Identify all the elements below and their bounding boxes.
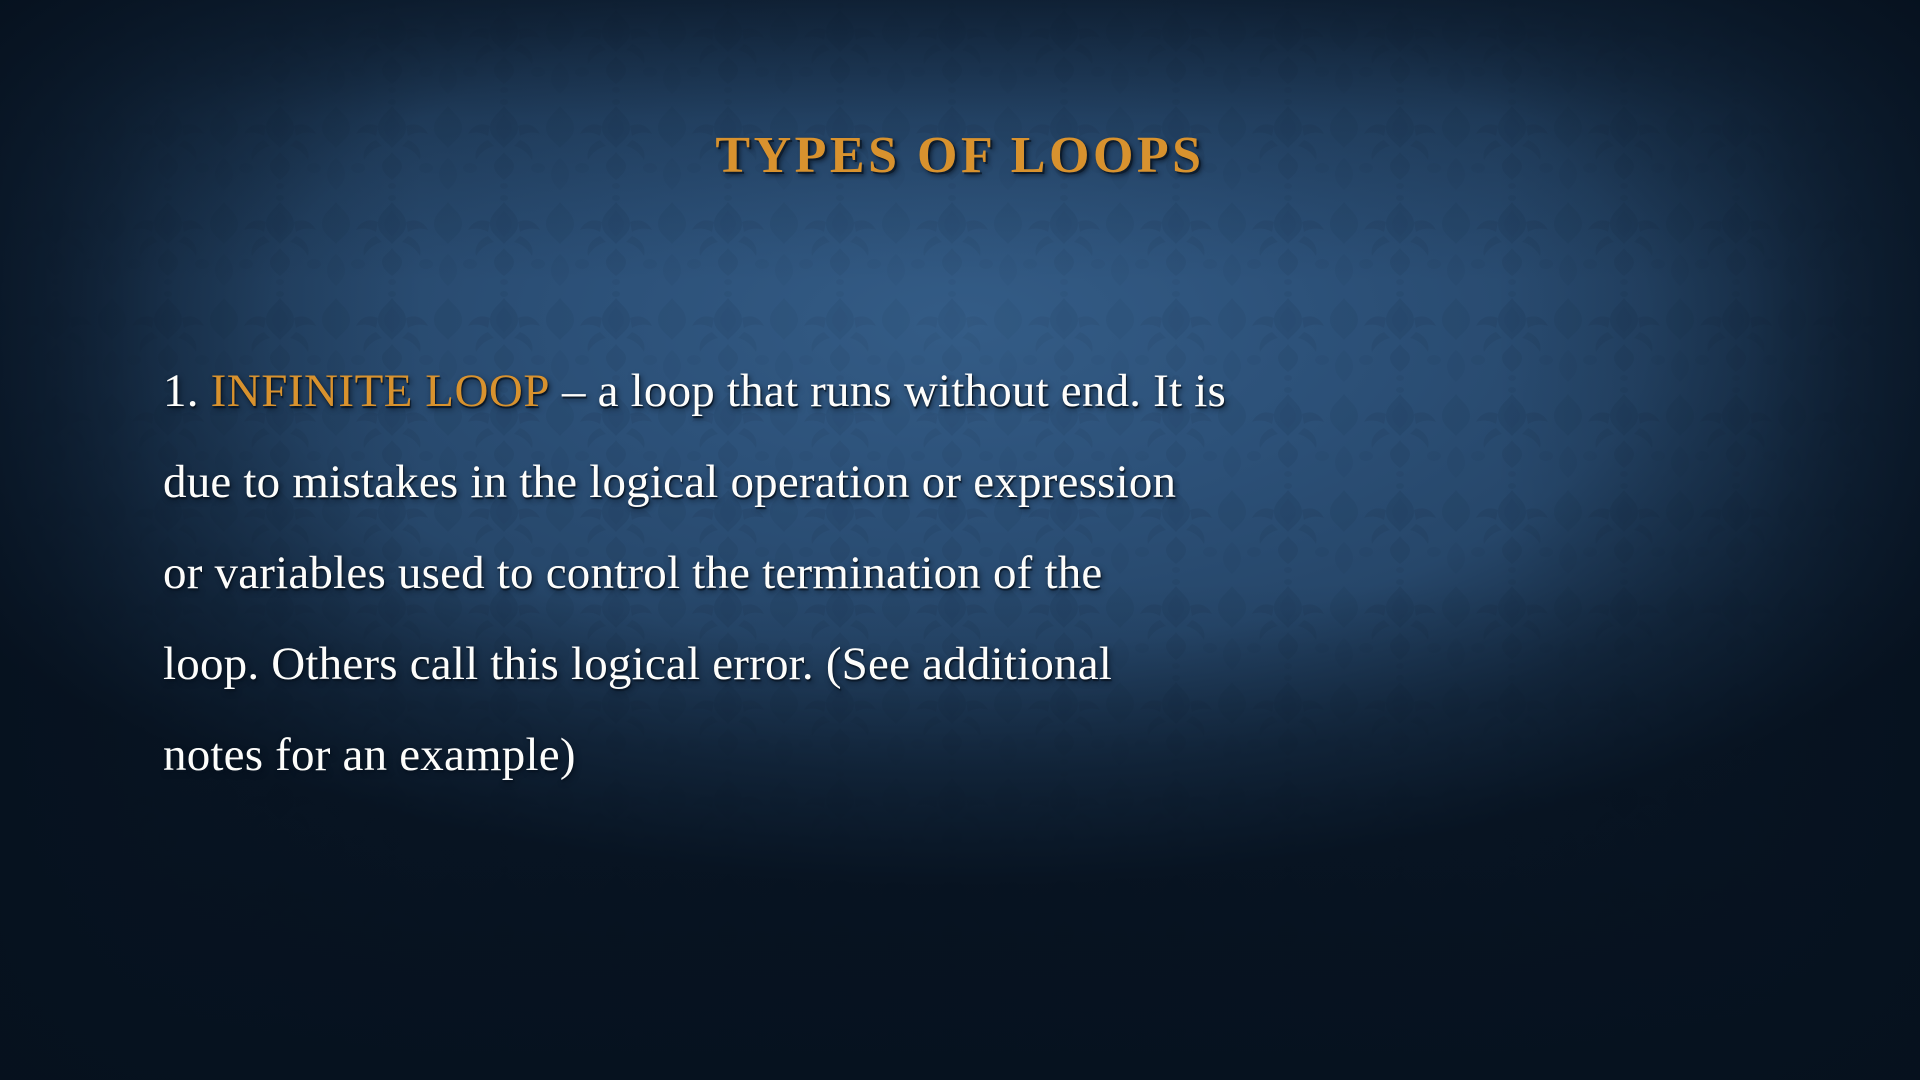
- body-line-text: – a loop that runs without end. It is: [550, 365, 1226, 417]
- slide-body: 1. INFINITE LOOP – a loop that runs with…: [163, 346, 1763, 801]
- body-line: notes for an example): [163, 710, 1763, 801]
- body-line-text: notes for an example): [163, 729, 576, 781]
- body-line-text: due to mistakes in the logical operation…: [163, 456, 1176, 508]
- body-line-text: or variables used to control the termina…: [163, 547, 1102, 599]
- list-number: 1.: [163, 365, 199, 417]
- highlight-term: INFINITE LOOP: [211, 365, 550, 417]
- body-line-text: loop. Others call this logical error. (S…: [163, 638, 1112, 690]
- slide-title: TYPES OF LOOPS: [0, 126, 1920, 185]
- body-line: or variables used to control the termina…: [163, 528, 1763, 619]
- body-line: loop. Others call this logical error. (S…: [163, 619, 1763, 710]
- slide-content: TYPES OF LOOPS 1. INFINITE LOOP – a loop…: [0, 0, 1920, 1080]
- body-line: 1. INFINITE LOOP – a loop that runs with…: [163, 346, 1763, 437]
- body-line: due to mistakes in the logical operation…: [163, 437, 1763, 528]
- presentation-slide: TYPES OF LOOPS 1. INFINITE LOOP – a loop…: [0, 0, 1920, 1080]
